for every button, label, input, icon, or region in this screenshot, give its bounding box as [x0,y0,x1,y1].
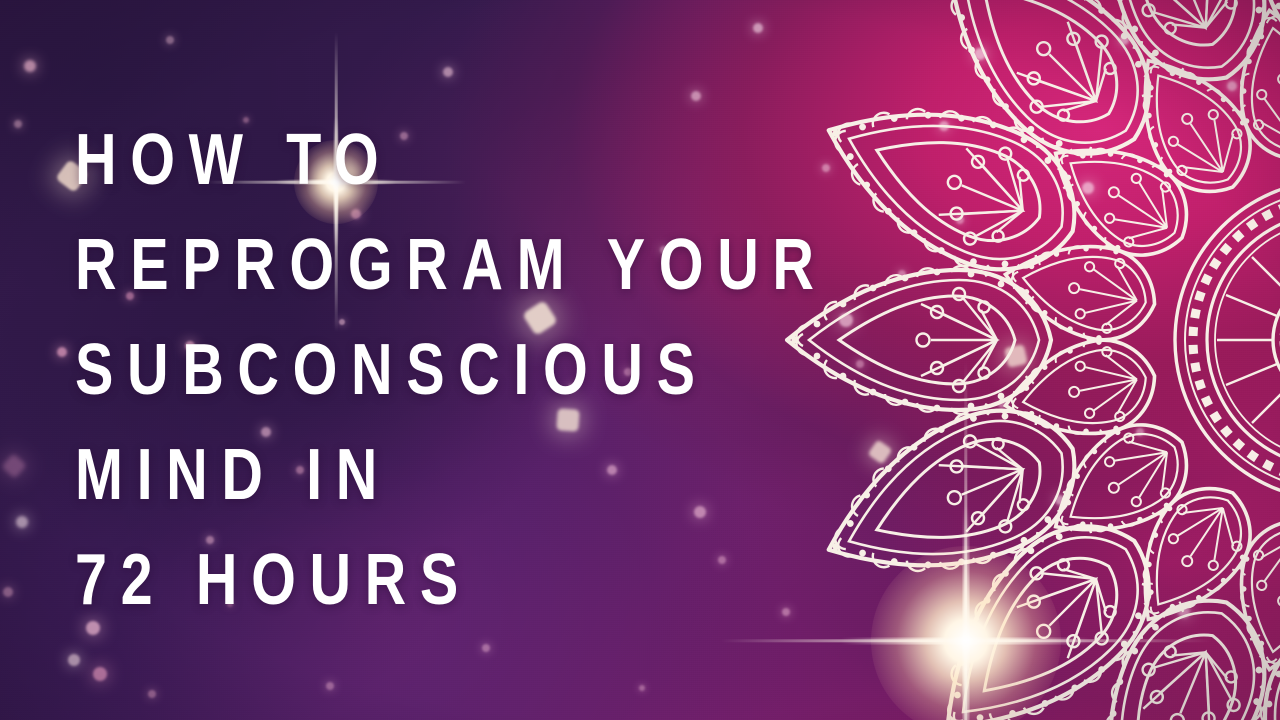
headline-line-1: HOW TO [75,108,828,213]
headline-line-5: 72 HOURS [75,528,828,633]
headline-line-4: MIND IN [75,423,828,528]
page-title: HOW TO REPROGRAM YOUR SUBCONSCIOUS MIND … [75,108,1016,633]
poster-canvas: HOW TO REPROGRAM YOUR SUBCONSCIOUS MIND … [0,0,1280,720]
headline-line-3: SUBCONSCIOUS [75,318,828,423]
headline-line-2: REPROGRAM YOUR [75,213,828,318]
